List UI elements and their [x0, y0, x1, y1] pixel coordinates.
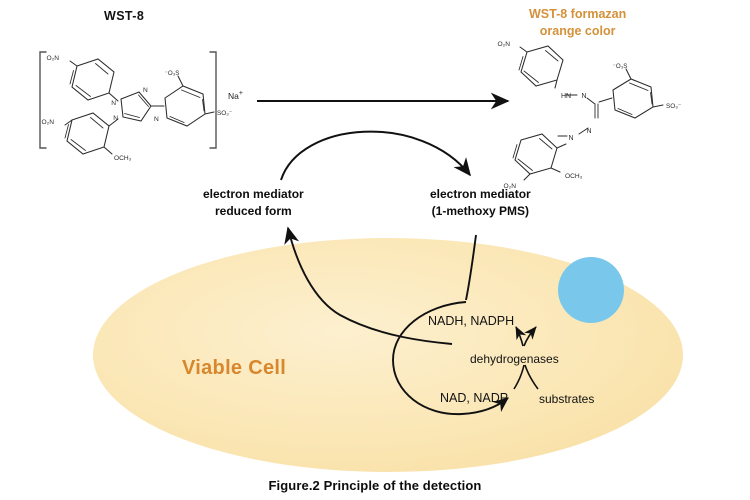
svg-text:N: N	[568, 135, 573, 142]
svg-text:⁻O₃S: ⁻O₃S	[613, 63, 628, 70]
reduced-cofactors-label: NADH, NADPH	[428, 314, 514, 329]
wst8-title: WST-8	[104, 9, 144, 24]
formazan-structure-labels: O₂N O₂N OCH₃ ⁻O₃S SO₃⁻ HN N N N	[498, 41, 682, 190]
sodium-symbol: Na	[228, 91, 239, 101]
svg-text:SO₃⁻: SO₃⁻	[666, 103, 681, 110]
formazan-title: WST-8 formazan orange color	[529, 6, 626, 40]
figure-principle-of-detection: O₂N O₂N OCH₃ ⁻O₃S SO₃⁻ N N N N	[0, 0, 750, 500]
svg-text:N: N	[111, 100, 116, 107]
electron-mediator-reduced-label: electron mediator reduced form	[203, 186, 304, 220]
wst8-formazan-chemical-structure	[513, 46, 663, 180]
formazan-title-line1: WST-8 formazan	[529, 6, 626, 23]
diagram-canvas: O₂N O₂N OCH₃ ⁻O₃S SO₃⁻ N N N N	[0, 0, 750, 500]
svg-text:HN: HN	[561, 93, 571, 100]
svg-text:O₂N: O₂N	[498, 41, 511, 48]
svg-text:O₂N: O₂N	[47, 55, 60, 62]
svg-text:N: N	[154, 116, 159, 123]
mediator-left-line2: reduced form	[203, 203, 304, 220]
svg-text:N: N	[143, 87, 148, 94]
wst8-chemical-structure	[40, 52, 216, 154]
sodium-counter-ion: Na+	[228, 90, 243, 101]
svg-text:N: N	[113, 115, 118, 122]
oxidized-cofactors-label: NAD, NADP	[440, 391, 508, 406]
svg-text:OCH₃: OCH₃	[114, 155, 132, 162]
viable-cell-label: Viable Cell	[182, 356, 286, 380]
substrates-label: substrates	[539, 392, 594, 407]
mediator-left-line1: electron mediator	[203, 186, 304, 203]
svg-text:⁻O₃S: ⁻O₃S	[165, 70, 180, 77]
figure-caption: Figure.2 Principle of the detection	[0, 478, 750, 494]
svg-text:SO₃⁻: SO₃⁻	[217, 110, 232, 117]
svg-text:N: N	[586, 128, 591, 135]
mediator-cycle-arc-arrow	[281, 132, 470, 180]
svg-text:N: N	[581, 93, 586, 100]
formazan-title-line2: orange color	[529, 23, 626, 40]
svg-text:O₂N: O₂N	[42, 119, 55, 126]
sodium-charge: +	[239, 90, 243, 97]
dehydrogenases-label: dehydrogenases	[470, 352, 559, 367]
mediator-right-line2: (1-methoxy PMS)	[430, 203, 531, 220]
mediator-right-line1: electron mediator	[430, 186, 531, 203]
svg-text:OCH₃: OCH₃	[565, 173, 583, 180]
electron-mediator-oxidized-label: electron mediator (1-methoxy PMS)	[430, 186, 531, 220]
nucleus-icon	[558, 257, 624, 323]
